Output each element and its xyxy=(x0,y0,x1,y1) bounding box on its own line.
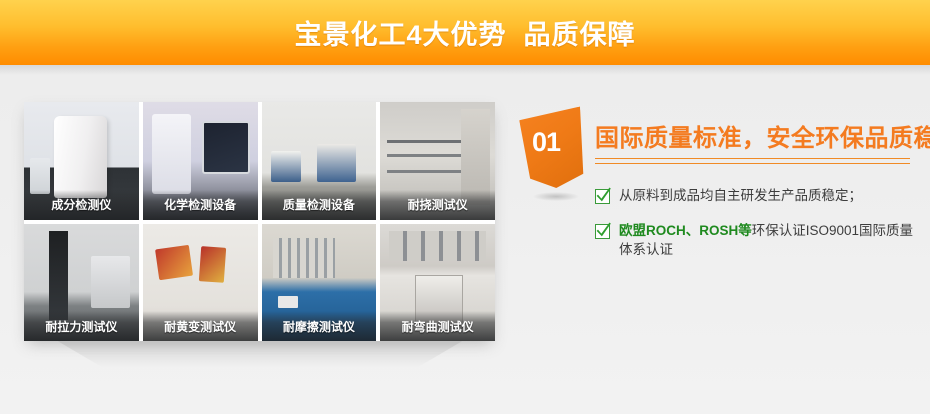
gallery-item-caption: 质量检测设备 xyxy=(262,190,377,220)
feature-bullet-body: 从原料到成品均自主研发生产品质稳定； xyxy=(619,188,862,203)
feature-headline: 国际质量标准，安全环保品质稳定 xyxy=(595,118,930,153)
gallery-item-caption: 化学检测设备 xyxy=(143,190,258,220)
header-drop-shadow xyxy=(0,65,930,75)
gallery-item[interactable]: 质量检测设备 xyxy=(262,102,377,220)
gallery-item-caption: 成分检测仪 xyxy=(24,190,139,220)
step-number-label: 01 xyxy=(515,100,577,178)
feature-bullet-text: 欧盟ROCH、ROSH等环保认证ISO9001国际质量体系认证 xyxy=(619,221,915,259)
gallery-item[interactable]: 耐拉力测试仪 xyxy=(24,224,139,342)
header-title: 宝景化工4大优势 品质保障 xyxy=(294,13,635,52)
check-icon xyxy=(595,224,610,239)
gallery-item[interactable]: 耐摩擦测试仪 xyxy=(262,224,377,342)
gallery-item-caption: 耐弯曲测试仪 xyxy=(380,311,495,341)
feature-bullet-text: 从原料到成品均自主研发生产品质稳定； xyxy=(619,186,862,205)
header-bar: 宝景化工4大优势 品质保障 xyxy=(0,0,930,65)
gallery-item[interactable]: 化学检测设备 xyxy=(143,102,258,220)
promo-banner: 宝景化工4大优势 品质保障 成分检测仪 化学检测设备 质量检测设备 耐挠测试仪 … xyxy=(0,0,930,414)
feature-bullet: 从原料到成品均自主研发生产品质稳定； xyxy=(595,186,915,205)
feature-divider xyxy=(595,158,910,164)
gallery-item[interactable]: 耐挠测试仪 xyxy=(380,102,495,220)
badge-drop-shadow xyxy=(533,192,579,201)
gallery-item[interactable]: 成分检测仪 xyxy=(24,102,139,220)
feature-bullet-emphasis: 欧盟ROCH、ROSH等 xyxy=(619,223,752,238)
gallery-item-caption: 耐挠测试仪 xyxy=(380,190,495,220)
feature-panel: 01 国际质量标准，安全环保品质稳定 从原料到成品均自主研发生产品质稳定； xyxy=(515,100,915,310)
gallery-item-caption: 耐拉力测试仪 xyxy=(24,311,139,341)
feature-bullet: 欧盟ROCH、ROSH等环保认证ISO9001国际质量体系认证 xyxy=(595,221,915,259)
gallery-item[interactable]: 耐弯曲测试仪 xyxy=(380,224,495,342)
gallery-drop-shadow xyxy=(40,341,480,367)
equipment-gallery: 成分检测仪 化学检测设备 质量检测设备 耐挠测试仪 耐拉力测试仪 耐黄变测试仪 … xyxy=(24,102,495,341)
gallery-item-caption: 耐黄变测试仪 xyxy=(143,311,258,341)
gallery-item-caption: 耐摩擦测试仪 xyxy=(262,311,377,341)
check-icon xyxy=(595,189,610,204)
gallery-item[interactable]: 耐黄变测试仪 xyxy=(143,224,258,342)
feature-bullet-list: 从原料到成品均自主研发生产品质稳定； 欧盟ROCH、ROSH等环保认证ISO90… xyxy=(595,186,915,275)
